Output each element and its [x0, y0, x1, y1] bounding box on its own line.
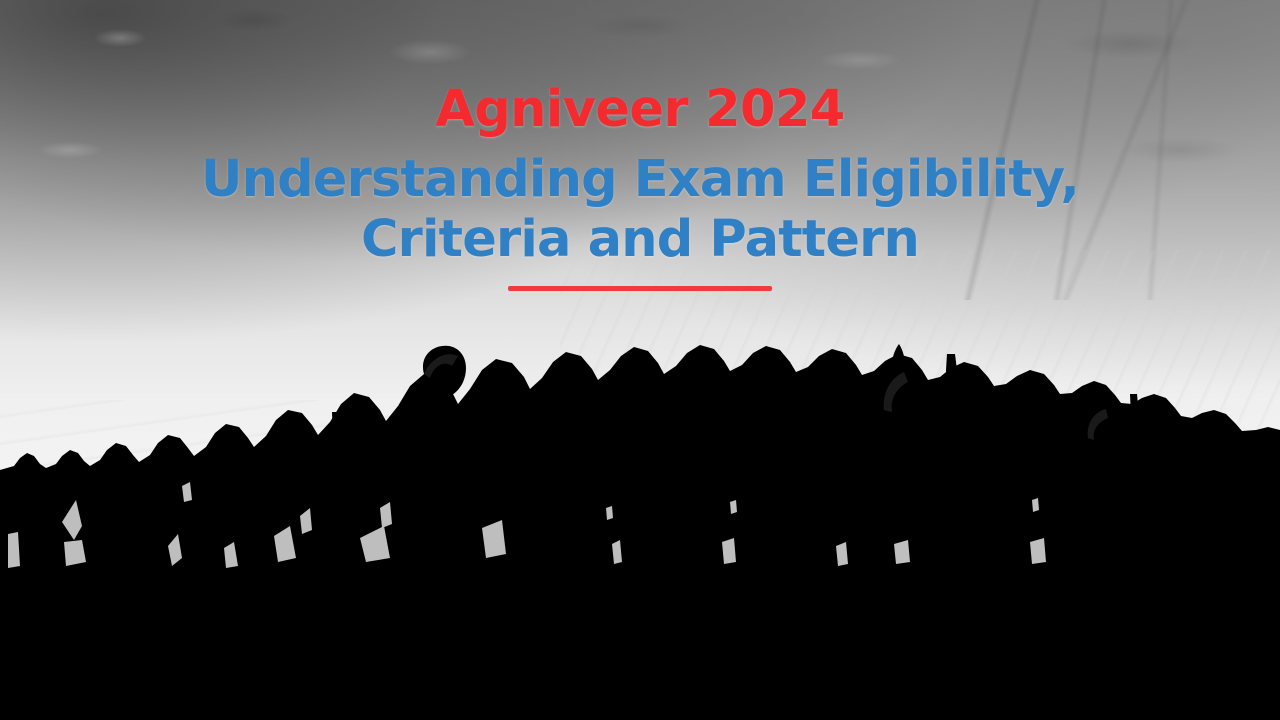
- page-title: Understanding Exam Eligibility, Criteria…: [0, 150, 1280, 270]
- page-eyebrow: Agniveer 2024: [0, 84, 1280, 135]
- title-block: Agniveer 2024 Understanding Exam Eligibi…: [0, 0, 1280, 291]
- title-underline-rule: [508, 286, 772, 291]
- agniveer-banner: Agniveer 2024 Understanding Exam Eligibi…: [0, 0, 1280, 720]
- page-title-line-2: Criteria and Pattern: [0, 210, 1280, 270]
- page-title-line-1: Understanding Exam Eligibility,: [0, 150, 1280, 210]
- marching-troops-silhouette: [0, 290, 1280, 720]
